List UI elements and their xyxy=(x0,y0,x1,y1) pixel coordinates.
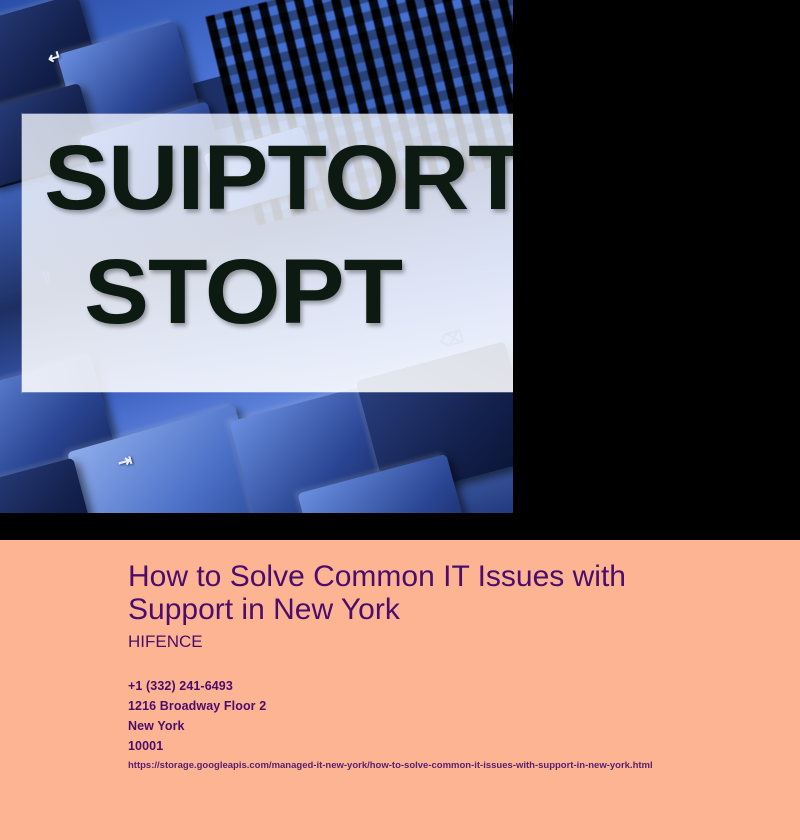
content-area: How to Solve Common IT Issues with Suppo… xyxy=(0,540,800,840)
source-url[interactable]: https://storage.googleapis.com/managed-i… xyxy=(128,760,653,771)
photo-overlay-text-line-1: SUIPTORT xyxy=(44,132,513,224)
contact-city: New York xyxy=(128,719,185,733)
contact-street: 1216 Broadway Floor 2 xyxy=(128,699,266,713)
media-band: ↵ ⇧ ⌘ ⌫ ⇥ SUIPTORT STOPT xyxy=(0,0,800,540)
page-title: How to Solve Common IT Issues with Suppo… xyxy=(128,560,708,626)
contact-zip: 10001 xyxy=(128,739,163,753)
photo-overlay-text-line-2: STOPT xyxy=(84,246,402,338)
brand-name: HIFENCE xyxy=(128,632,203,652)
contact-phone[interactable]: +1 (332) 241-6493 xyxy=(128,679,233,693)
keyboard-photo: ↵ ⇧ ⌘ ⌫ ⇥ SUIPTORT STOPT xyxy=(0,0,513,513)
